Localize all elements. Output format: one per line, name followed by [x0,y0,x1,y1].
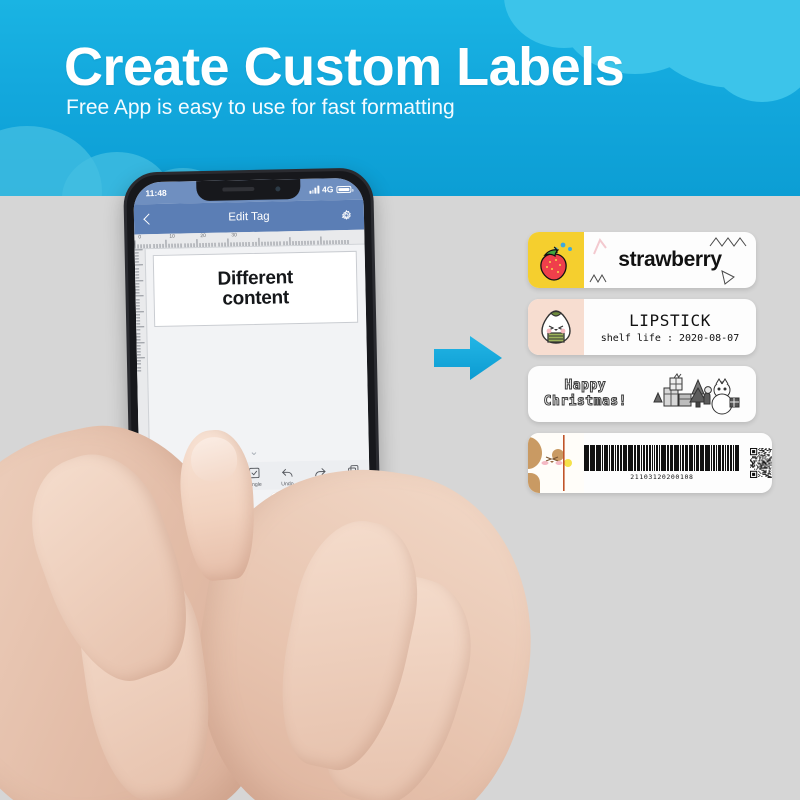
barcode-bar [604,445,607,471]
label-preview-list: strawberry LIPSTICK shelf life : 2 [528,232,772,493]
barcode-bar [630,445,633,471]
ruler-tick [348,240,351,244]
cloud-shape [710,10,800,102]
front-camera-icon [275,186,280,191]
ruler-tick [137,370,141,373]
barcode-bar [705,445,708,471]
barcode-bar [736,445,739,471]
barcode-bar [661,445,664,471]
label-text: Differentcontent [217,268,293,309]
barcode-bar [725,445,726,471]
label-body: 21103120200108 [584,433,772,493]
barcode-bar [735,445,736,471]
signal-bars-icon [310,186,320,194]
label-sticker-christmas[interactable]: HappyChristmas! [528,366,756,422]
ruler-number: 0 [138,234,141,240]
chevron-down-icon[interactable]: ⌄ [249,447,258,458]
barcode-bar [620,445,623,471]
page-title: Create Custom Labels [64,36,624,98]
header-banner: Create Custom Labels Free App is easy to… [0,0,800,196]
status-indicators: 4G [310,184,352,195]
strawberry-icon [528,232,584,288]
barcode-bar [722,445,725,471]
page-subtitle: Free App is easy to use for fast formatt… [66,96,455,120]
barcode-bar [598,445,601,471]
label-text-strawberry: strawberry [618,248,721,272]
label-canvas[interactable]: Differentcontent ⌄ [135,245,369,465]
network-label: 4G [322,184,334,194]
label-sticker-lipstick[interactable]: LIPSTICK shelf life : 2020-08-07 [528,299,756,355]
snowman-gifts-icon [648,372,740,416]
label-sticker-barcode[interactable]: 21103120200108 [528,433,772,493]
label-body: strawberry [584,232,756,288]
barcode-bar [674,445,677,471]
label-body: HappyChristmas! [528,366,756,422]
label-sticker-strawberry[interactable]: strawberry [528,232,756,288]
barcode-icon [584,445,740,471]
phone-notch [196,179,300,201]
qr-code-icon [750,448,772,478]
label-text-christmas: HappyChristmas! [544,378,627,411]
ruler-number: 10 [169,234,175,240]
barcode-bar [727,445,730,471]
right-arrow-icon [432,332,504,384]
navbar-title: Edit Tag [134,209,364,226]
decoration-icon [718,268,746,286]
onigiri-rice-ball-icon [528,299,584,355]
battery-icon [336,185,351,192]
barcode-bar [718,445,721,471]
barcode-bar [689,445,692,471]
app-navbar: Edit Tag [134,200,365,235]
barcode-bar [692,445,693,471]
speaker-icon [222,187,254,192]
label-subtitle-shelf-life: shelf life : 2020-08-07 [601,333,739,344]
status-time: 11:48 [145,188,166,198]
undo-arrow-icon [280,465,294,479]
ruler-number: 30 [231,232,237,238]
gear-icon[interactable] [340,208,353,221]
barcode-number: 21103120200108 [630,473,693,481]
label-title-lipstick: LIPSTICK [629,311,711,330]
barcode-bar [635,445,636,471]
barcode-bar [586,445,589,471]
label-text-box[interactable]: Differentcontent [153,251,358,327]
fingernail [189,435,239,483]
ruler-number: 20 [200,233,206,239]
barcode-bar [637,445,640,471]
decoration-icon [588,271,624,285]
barcode-bar [682,445,685,471]
label-body: LIPSTICK shelf life : 2020-08-07 [584,299,756,355]
cat-face-icon [528,433,584,493]
page-root: Create Custom Labels Free App is easy to… [0,0,800,800]
barcode-bar [590,445,593,471]
